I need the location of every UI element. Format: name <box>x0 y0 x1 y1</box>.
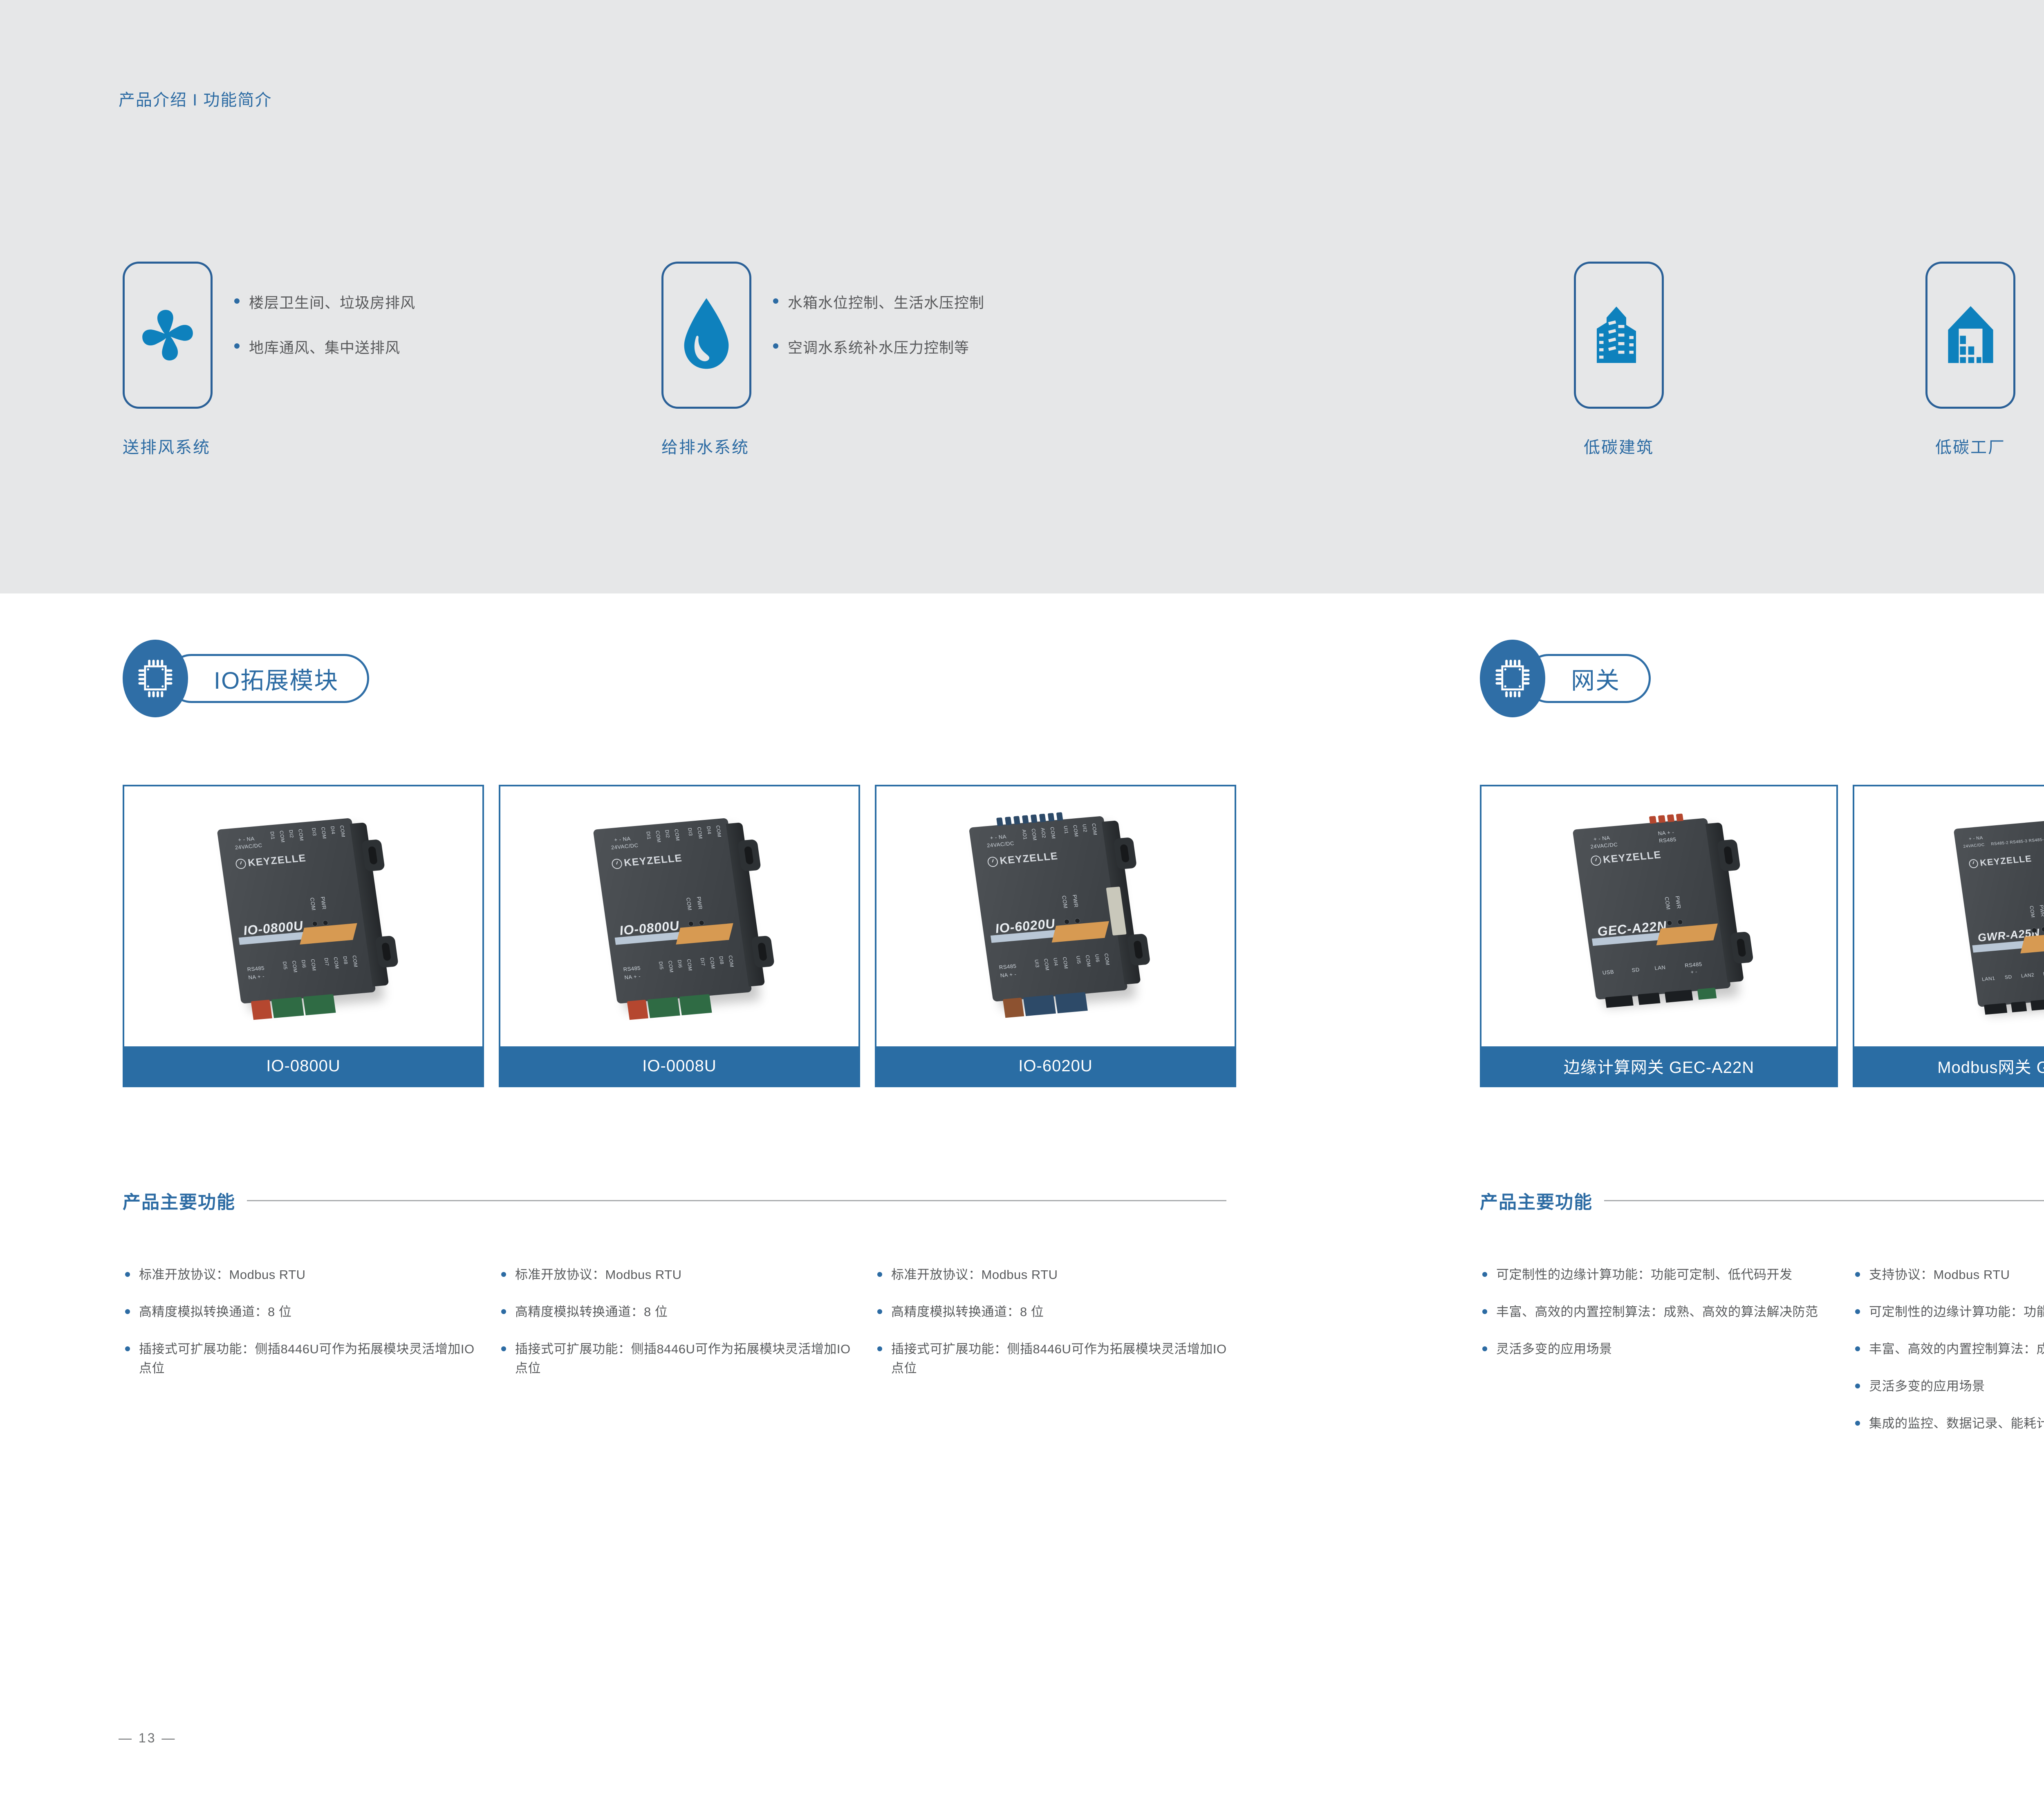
bottom-pin: UI6 <box>1094 954 1101 966</box>
led-label-com: COM <box>2028 905 2036 918</box>
product-card-io-0800u[interactable]: KEYZELLE + - NA 24VAC/DC DI1 COM DI2 COM… <box>123 785 484 1087</box>
brand-mark-icon <box>611 858 623 869</box>
section-title-gateways: 网关 <box>1480 640 1651 717</box>
feature-item: 插接式可扩展功能：侧插8446U可作为拓展模块灵活增加IO点位 <box>123 1339 484 1378</box>
page-header-left: 产品介绍 I 功能简介 <box>119 87 272 110</box>
factory-icon-box <box>1925 262 2015 409</box>
page-number-left: — 13 — <box>119 1731 176 1746</box>
led-label-com: COM <box>685 897 693 911</box>
rs485-label: RS485 <box>623 965 641 973</box>
rs485-pins: NA + - <box>624 973 641 981</box>
port-label-lan2: LAN2 <box>2021 972 2035 979</box>
product-image: KEYZELLE + - NA 24VAC/DC RS485-2 RS485-3… <box>1854 786 2044 1046</box>
application-item-ventilation: 送排风系统 楼层卫生间、垃圾房排风 地库通风、集中送排风 <box>123 262 213 458</box>
top-pin: DI1 <box>645 831 652 844</box>
port-label-rs485: RS485 <box>1684 961 1702 969</box>
feature-item: 标准开放协议：Modbus RTU <box>875 1265 1236 1284</box>
led-label-pwr: PWR <box>2038 905 2044 917</box>
bullet-item: 水箱水位控制、生活水压控制 <box>770 291 1080 312</box>
led-pwr <box>323 920 329 926</box>
top-pin: AO1 <box>1021 829 1029 842</box>
features-header-gateways: 产品主要功能 <box>1480 1187 2044 1214</box>
bottom-pin: UI3 <box>1033 959 1041 972</box>
application-item-low-carbon-factory: 低碳工厂 <box>1923 262 2017 458</box>
product-card-gwr-a25n[interactable]: KEYZELLE + - NA 24VAC/DC RS485-2 RS485-3… <box>1853 785 2044 1087</box>
features-rule <box>247 1200 1226 1201</box>
section-title-label: IO拓展模块 <box>214 661 338 696</box>
product-image: KEYZELLE + - NA 24VAC/DC DI1 COM DI2 COM… <box>500 786 858 1046</box>
bottom-pin: DI6 <box>300 960 308 972</box>
feature-item: 高精度模拟转换通道：8 位 <box>875 1302 1236 1321</box>
io-product-cards: KEYZELLE + - NA 24VAC/DC DI1 COM DI2 COM… <box>123 785 1236 1087</box>
device-brand: KEYZELLE <box>987 850 1059 868</box>
power-spec-label: 24VAC/DC <box>986 840 1015 849</box>
rs485-label: RS485 <box>247 965 265 973</box>
rs485-pins: NA + - <box>1000 971 1017 978</box>
bottom-pin: DI8 <box>342 956 350 968</box>
top-pin: COM <box>1072 825 1079 837</box>
led-label-com: COM <box>1664 897 1672 910</box>
fan-icon-box <box>123 262 213 409</box>
application-caption: 低碳建筑 <box>1572 434 1666 458</box>
led-pwr <box>699 920 705 926</box>
feature-item: 标准开放协议：Modbus RTU <box>123 1265 484 1284</box>
product-caption: IO-0800U <box>124 1046 482 1086</box>
application-caption: 给排水系统 <box>661 434 751 458</box>
feature-column: 可定制性的边缘计算功能：功能可定制、低代码开发 丰富、高效的内置控制算法：成熟、… <box>1480 1265 1838 1451</box>
bottom-pin: UI4 <box>1052 958 1060 970</box>
device-brand: KEYZELLE <box>1590 849 1662 867</box>
feature-column: 支持协议：Modbus RTU 可定制性的边缘计算功能：功能可定制、低代码开发 … <box>1853 1265 2044 1451</box>
feature-item: 高精度模拟转换通道：8 位 <box>123 1302 484 1321</box>
section-title-pill: IO拓展模块 <box>167 654 369 703</box>
bottom-pin: COM <box>1103 953 1111 965</box>
device-brand: KEYZELLE <box>235 852 307 870</box>
application-scenarios-row: 送排风系统 楼层卫生间、垃圾房排风 地库通风、集中送排风 给排水系统 水箱水位控… <box>0 262 2044 515</box>
power-spec-label: 24VAC/DC <box>235 842 263 851</box>
feature-item: 集成的监控、数据记录、能耗计量、报警、调度和网络管理 <box>1853 1414 2044 1433</box>
product-caption: Modbus网关 GWR-A25N <box>1854 1046 2044 1086</box>
feature-column: 标准开放协议：Modbus RTU 高精度模拟转换通道：8 位 插接式可扩展功能… <box>499 1265 860 1396</box>
brand-mark-icon <box>1968 859 1979 869</box>
top-pin: COM <box>1091 823 1098 835</box>
product-card-gec-a22n[interactable]: KEYZELLE + - NA 24VAC/DC NA + - RS485 GE… <box>1480 785 1838 1087</box>
product-caption: IO-0008U <box>500 1046 858 1086</box>
feature-item: 灵活多变的应用场景 <box>1480 1339 1838 1359</box>
chip-icon <box>1480 640 1545 717</box>
led-com <box>1667 920 1673 926</box>
water-bullets: 水箱水位控制、生活水压控制 空调水系统补水压力控制等 <box>770 291 1080 381</box>
application-caption: 送排风系统 <box>123 434 213 458</box>
product-card-io-0008u[interactable]: KEYZELLE + - NA 24VAC/DC DI1 COM DI2 COM… <box>499 785 860 1087</box>
office-buildings-icon <box>1588 302 1650 369</box>
port-label-lan1: LAN1 <box>1981 975 1995 982</box>
led-com <box>312 921 318 927</box>
bullet-item: 地库通风、集中送排风 <box>231 336 542 357</box>
feature-column: 标准开放协议：Modbus RTU 高精度模拟转换通道：8 位 插接式可扩展功能… <box>875 1265 1236 1396</box>
application-item-water: 给排水系统 水箱水位控制、生活水压控制 空调水系统补水压力控制等 <box>661 262 751 458</box>
application-item-low-carbon-building: 低碳建筑 <box>1572 262 1666 458</box>
bottom-pin: COM <box>709 957 716 969</box>
led-com <box>1064 919 1070 925</box>
port-label-sd: SD <box>1632 967 1640 974</box>
device-brand: KEYZELLE <box>1968 853 2033 869</box>
brand-mark-icon <box>987 856 998 867</box>
top-pin: UI2 <box>1081 824 1089 836</box>
top-pin: COM <box>297 829 305 841</box>
rs485-top-label: RS485-2 RS485-3 RS485-4 RS485-5 <box>1991 835 2044 846</box>
rs485-pins: NA + - <box>248 973 264 981</box>
bottom-pin: COM <box>333 957 340 969</box>
bottom-pin: COM <box>1085 955 1092 967</box>
features-header-io: 产品主要功能 <box>123 1187 1226 1214</box>
section-title-label: 网关 <box>1571 661 1620 696</box>
gateway-product-cards: KEYZELLE + - NA 24VAC/DC NA + - RS485 GE… <box>1480 785 2044 1087</box>
bottom-pin: DI5 <box>658 961 665 974</box>
led-com <box>688 921 694 927</box>
features-rule <box>1604 1200 2044 1201</box>
top-pin: COM <box>278 831 286 843</box>
top-pin: DI4 <box>706 826 713 838</box>
product-caption: IO-6020U <box>876 1046 1235 1086</box>
bottom-pin: DI7 <box>323 958 331 970</box>
feature-item: 丰富、高效的内置控制算法：成熟、高效的算法解决方案 <box>1853 1339 2044 1359</box>
bottom-pin: DI5 <box>282 961 289 974</box>
features-title: 产品主要功能 <box>1480 1187 1593 1214</box>
feature-item: 可定制性的边缘计算功能：功能可定制、低代码开发 <box>1480 1265 1838 1284</box>
power-spec-label: 24VAC/DC <box>1590 841 1618 850</box>
top-pin: COM <box>1049 827 1056 839</box>
bottom-pin: COM <box>1043 958 1050 971</box>
top-pin: UI1 <box>1062 826 1070 838</box>
factory-icon <box>1941 302 2000 368</box>
bottom-pin: DI7 <box>699 958 707 970</box>
bottom-pin: COM <box>728 955 735 967</box>
chip-icon <box>123 640 188 717</box>
feature-item: 插接式可扩展功能：侧插8446U可作为拓展模块灵活增加IO点位 <box>875 1339 1236 1378</box>
feature-item: 插接式可扩展功能：侧插8446U可作为拓展模块灵活增加IO点位 <box>499 1339 860 1378</box>
led-label-pwr: PWR <box>696 896 704 910</box>
ventilation-bullets: 楼层卫生间、垃圾房排风 地库通风、集中送排风 <box>231 291 542 381</box>
water-drop-icon-box <box>661 262 751 409</box>
top-pin: COM <box>715 825 722 837</box>
top-pin: COM <box>320 827 327 839</box>
feature-item: 标准开放协议：Modbus RTU <box>499 1265 860 1284</box>
features-columns-gateways: 可定制性的边缘计算功能：功能可定制、低代码开发 丰富、高效的内置控制算法：成熟、… <box>1480 1265 2044 1451</box>
led-pwr <box>1677 919 1683 925</box>
top-pin: AO2 <box>1040 828 1047 840</box>
section-title-io-modules: IO拓展模块 <box>123 640 369 717</box>
led-label-com: COM <box>309 897 317 911</box>
port-label-sd: SD <box>2004 974 2013 980</box>
product-image: KEYZELLE + - NA 24VAC/DC DI1 COM DI2 COM… <box>124 786 482 1046</box>
product-card-io-6020u[interactable]: KEYZELLE + - NA 24VAC/DC AO1 COM AO2 COM… <box>875 785 1236 1087</box>
top-pin: COM <box>1031 828 1038 841</box>
brand-mark-icon <box>235 858 247 869</box>
top-pin: DI4 <box>329 826 337 838</box>
bottom-pin: COM <box>291 961 298 973</box>
feature-item: 可定制性的边缘计算功能：功能可定制、低代码开发 <box>1853 1302 2044 1321</box>
bottom-pin: DI6 <box>677 960 684 972</box>
top-pin: DI2 <box>288 830 295 842</box>
device-brand: KEYZELLE <box>611 852 683 870</box>
port-polarity-label: + - <box>1690 969 1698 975</box>
power-pin-label: + - NA <box>614 835 631 843</box>
top-pin: DI1 <box>269 831 276 844</box>
power-pin-label: + - NA <box>238 835 255 843</box>
bottom-pin: COM <box>310 959 317 971</box>
feature-column: 标准开放协议：Modbus RTU 高精度模拟转换通道：8 位 插接式可扩展功能… <box>123 1265 484 1396</box>
application-caption: 低碳工厂 <box>1923 434 2017 458</box>
feature-item: 支持协议：Modbus RTU <box>1853 1265 2044 1284</box>
power-pin-label: + - NA <box>990 833 1007 841</box>
bottom-pin: COM <box>686 959 693 971</box>
features-columns-io: 标准开放协议：Modbus RTU 高精度模拟转换通道：8 位 插接式可扩展功能… <box>123 1265 1236 1396</box>
led-label-pwr: PWR <box>320 896 327 910</box>
bottom-pin: COM <box>667 961 675 973</box>
port-label-lan: LAN <box>1654 964 1666 971</box>
power-spec-label: 24VAC/DC <box>1963 843 1985 849</box>
top-pin: COM <box>673 829 681 841</box>
brand-mark-icon <box>1590 855 1602 866</box>
bottom-pin: DI8 <box>718 956 726 968</box>
feature-item: 高精度模拟转换通道：8 位 <box>499 1302 860 1321</box>
office-buildings-icon-box <box>1574 262 1664 409</box>
rs485-top-pins: NA + - <box>1658 829 1674 836</box>
top-pin: COM <box>339 825 346 837</box>
bottom-pin: COM <box>1062 957 1069 969</box>
features-title: 产品主要功能 <box>123 1187 235 1214</box>
product-caption: 边缘计算网关 GEC-A22N <box>1481 1046 1836 1086</box>
feature-item: 丰富、高效的内置控制算法：成熟、高效的算法解决防范 <box>1480 1302 1838 1321</box>
rs485-top-label: RS485 <box>1659 836 1676 844</box>
fan-icon <box>133 298 202 372</box>
bottom-pin: COM <box>352 955 359 967</box>
led-label-pwr: PWR <box>1071 894 1079 908</box>
led-label-pwr: PWR <box>1674 896 1682 909</box>
power-spec-label: 24VAC/DC <box>611 842 639 851</box>
bullet-item: 楼层卫生间、垃圾房排风 <box>231 291 542 312</box>
product-image: KEYZELLE + - NA 24VAC/DC NA + - RS485 GE… <box>1481 786 1836 1046</box>
feature-item: 灵活多变的应用场景 <box>1853 1377 2044 1396</box>
bullet-item: 空调水系统补水压力控制等 <box>770 336 1080 357</box>
top-pin: COM <box>654 831 662 843</box>
led-label-com: COM <box>1061 895 1069 909</box>
top-pin: COM <box>696 827 704 839</box>
top-pin: DI3 <box>311 828 318 840</box>
power-pin-label: + - NA <box>1593 835 1610 842</box>
port-label-usb: USB <box>1602 969 1614 976</box>
top-pin: DI2 <box>664 830 671 842</box>
top-pin: DI3 <box>687 828 694 840</box>
bottom-pin: UI5 <box>1075 956 1083 968</box>
water-drop-icon <box>674 294 739 376</box>
rs485-label: RS485 <box>999 963 1017 971</box>
led-pwr <box>2041 927 2044 932</box>
led-pwr <box>1074 918 1080 924</box>
power-pin-label: + - NA <box>1968 835 1983 842</box>
product-image: KEYZELLE + - NA 24VAC/DC AO1 COM AO2 COM… <box>876 786 1235 1046</box>
